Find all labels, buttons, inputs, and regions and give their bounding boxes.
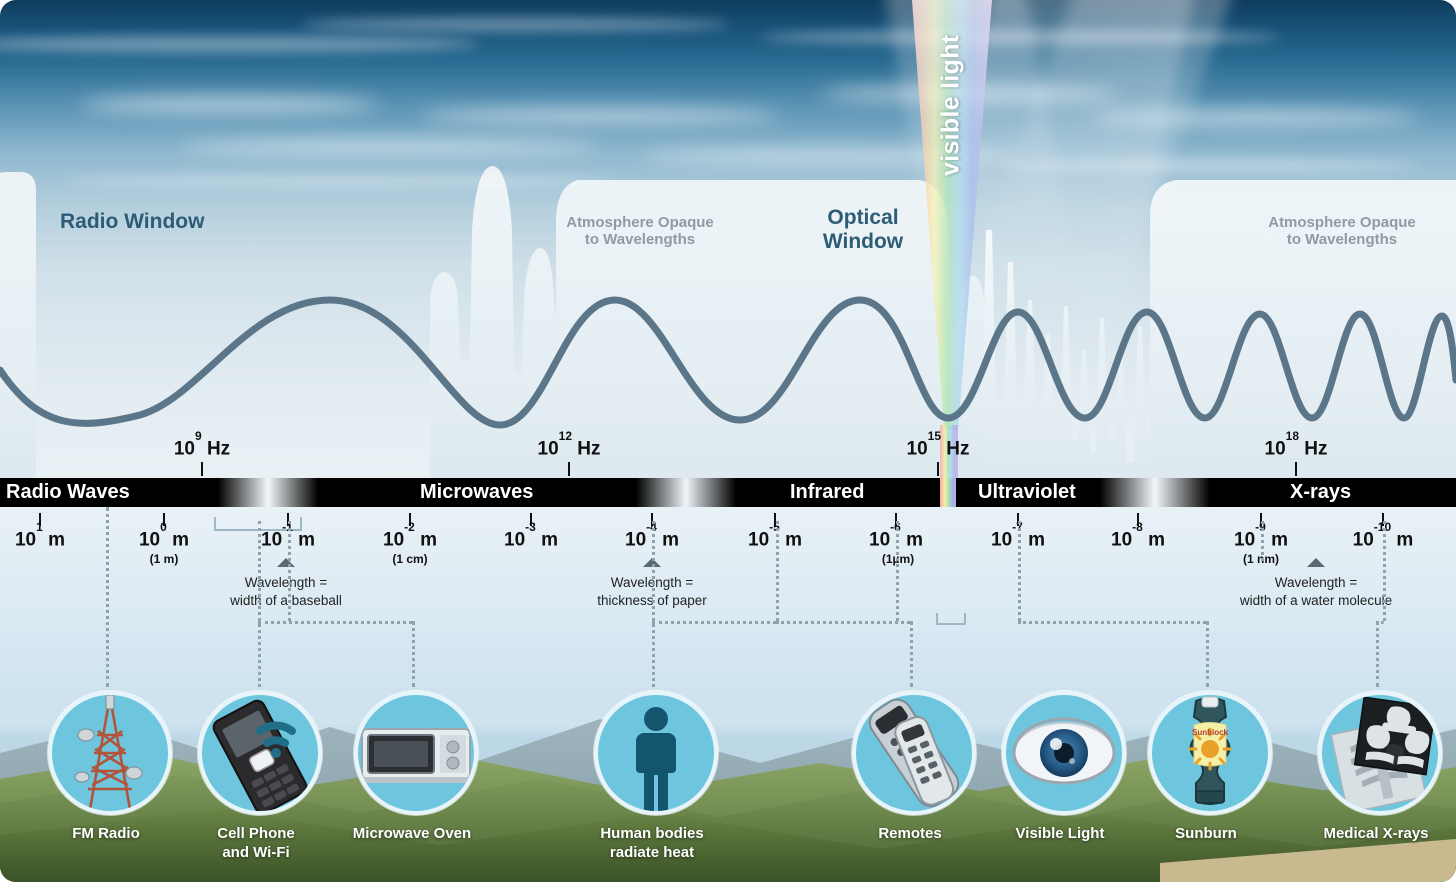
sunblock-bottle-icon: Sunblock [1152,695,1268,811]
electromagnetic-spectrum-infographic: Radio Window Atmosphere Opaqueto Wavelen… [0,0,1456,882]
visible-light-bracket [936,613,966,625]
hz-label-1e18: 1018 Hz [1265,436,1328,460]
caret-baseball [277,558,295,567]
example-label-human-bodies: Human bodiesradiate heat [600,825,703,863]
example-label-sunburn: Sunburn [1175,825,1237,844]
callout-water-molecule: Wavelength =width of a water molecule [1240,574,1392,609]
wavelength-label-1e-3: 10-3 m [504,527,558,551]
example-circle-cell-phone[interactable] [198,691,322,815]
example-circle-medical-xrays[interactable] [1318,691,1442,815]
wavelength-panel: 101 m 100 m (1 m) 10-1 m 10-2 m (1 cm) 1… [0,507,1456,882]
wavelength-sub-1cm: (1 cm) [392,552,427,566]
spectrum-band-bar: Radio Waves Microwaves Infrared Ultravio… [0,478,1456,507]
example-circle-sunburn[interactable]: Sunblock [1148,691,1272,815]
callout-baseball: Wavelength =width of a baseball [230,574,342,609]
wavelength-label-1e-2: 10-2 m [383,527,437,551]
hz-label-1e15: 1015 Hz [907,436,970,460]
microwave-oven-icon [358,695,474,811]
band-label-radio-waves: Radio Waves [6,478,130,507]
wavelength-label-1e0: 100 m [139,527,189,551]
example-circle-fm-radio[interactable] [48,691,172,815]
example-circle-visible-light[interactable] [1002,691,1126,815]
example-circle-microwave-oven[interactable] [354,691,478,815]
example-circle-human-bodies[interactable] [594,691,718,815]
wavelength-sub-1m: (1 m) [150,552,179,566]
radio-tower-icon [52,695,168,811]
caret-water-molecule [1307,558,1325,567]
band-label-ultraviolet: Ultraviolet [978,478,1076,507]
example-label-remotes: Remotes [878,825,941,844]
hz-label-1e12: 1012 Hz [538,436,601,460]
band-label-microwaves: Microwaves [420,478,533,507]
wavelength-label-1e-5: 10-5 m [748,527,802,551]
example-label-cell-phone: Cell Phoneand Wi-Fi [217,825,295,863]
xray-film-icon [1322,695,1438,811]
wavelength-label-1e1: 101 m [15,527,65,551]
tv-remote-icon [856,695,972,811]
wavelength-label-1e-8: 10-8 m [1111,527,1165,551]
example-label-fm-radio: FM Radio [72,825,140,844]
band-label-x-rays: X-rays [1290,478,1351,507]
example-label-medical-xrays: Medical X-rays [1323,825,1428,844]
eye-icon [1006,695,1122,811]
hz-label-1e9: 109 Hz [174,436,230,460]
example-label-microwave-oven: Microwave Oven [353,825,471,844]
example-circle-remotes[interactable] [852,691,976,815]
example-label-visible-light: Visible Light [1016,825,1105,844]
sunblock-brand-text: Sunblock [1192,728,1229,737]
band-label-infrared: Infrared [790,478,864,507]
cellphone-wifi-icon [202,695,318,811]
human-body-icon [598,695,714,811]
em-wave-curve [0,0,1456,478]
